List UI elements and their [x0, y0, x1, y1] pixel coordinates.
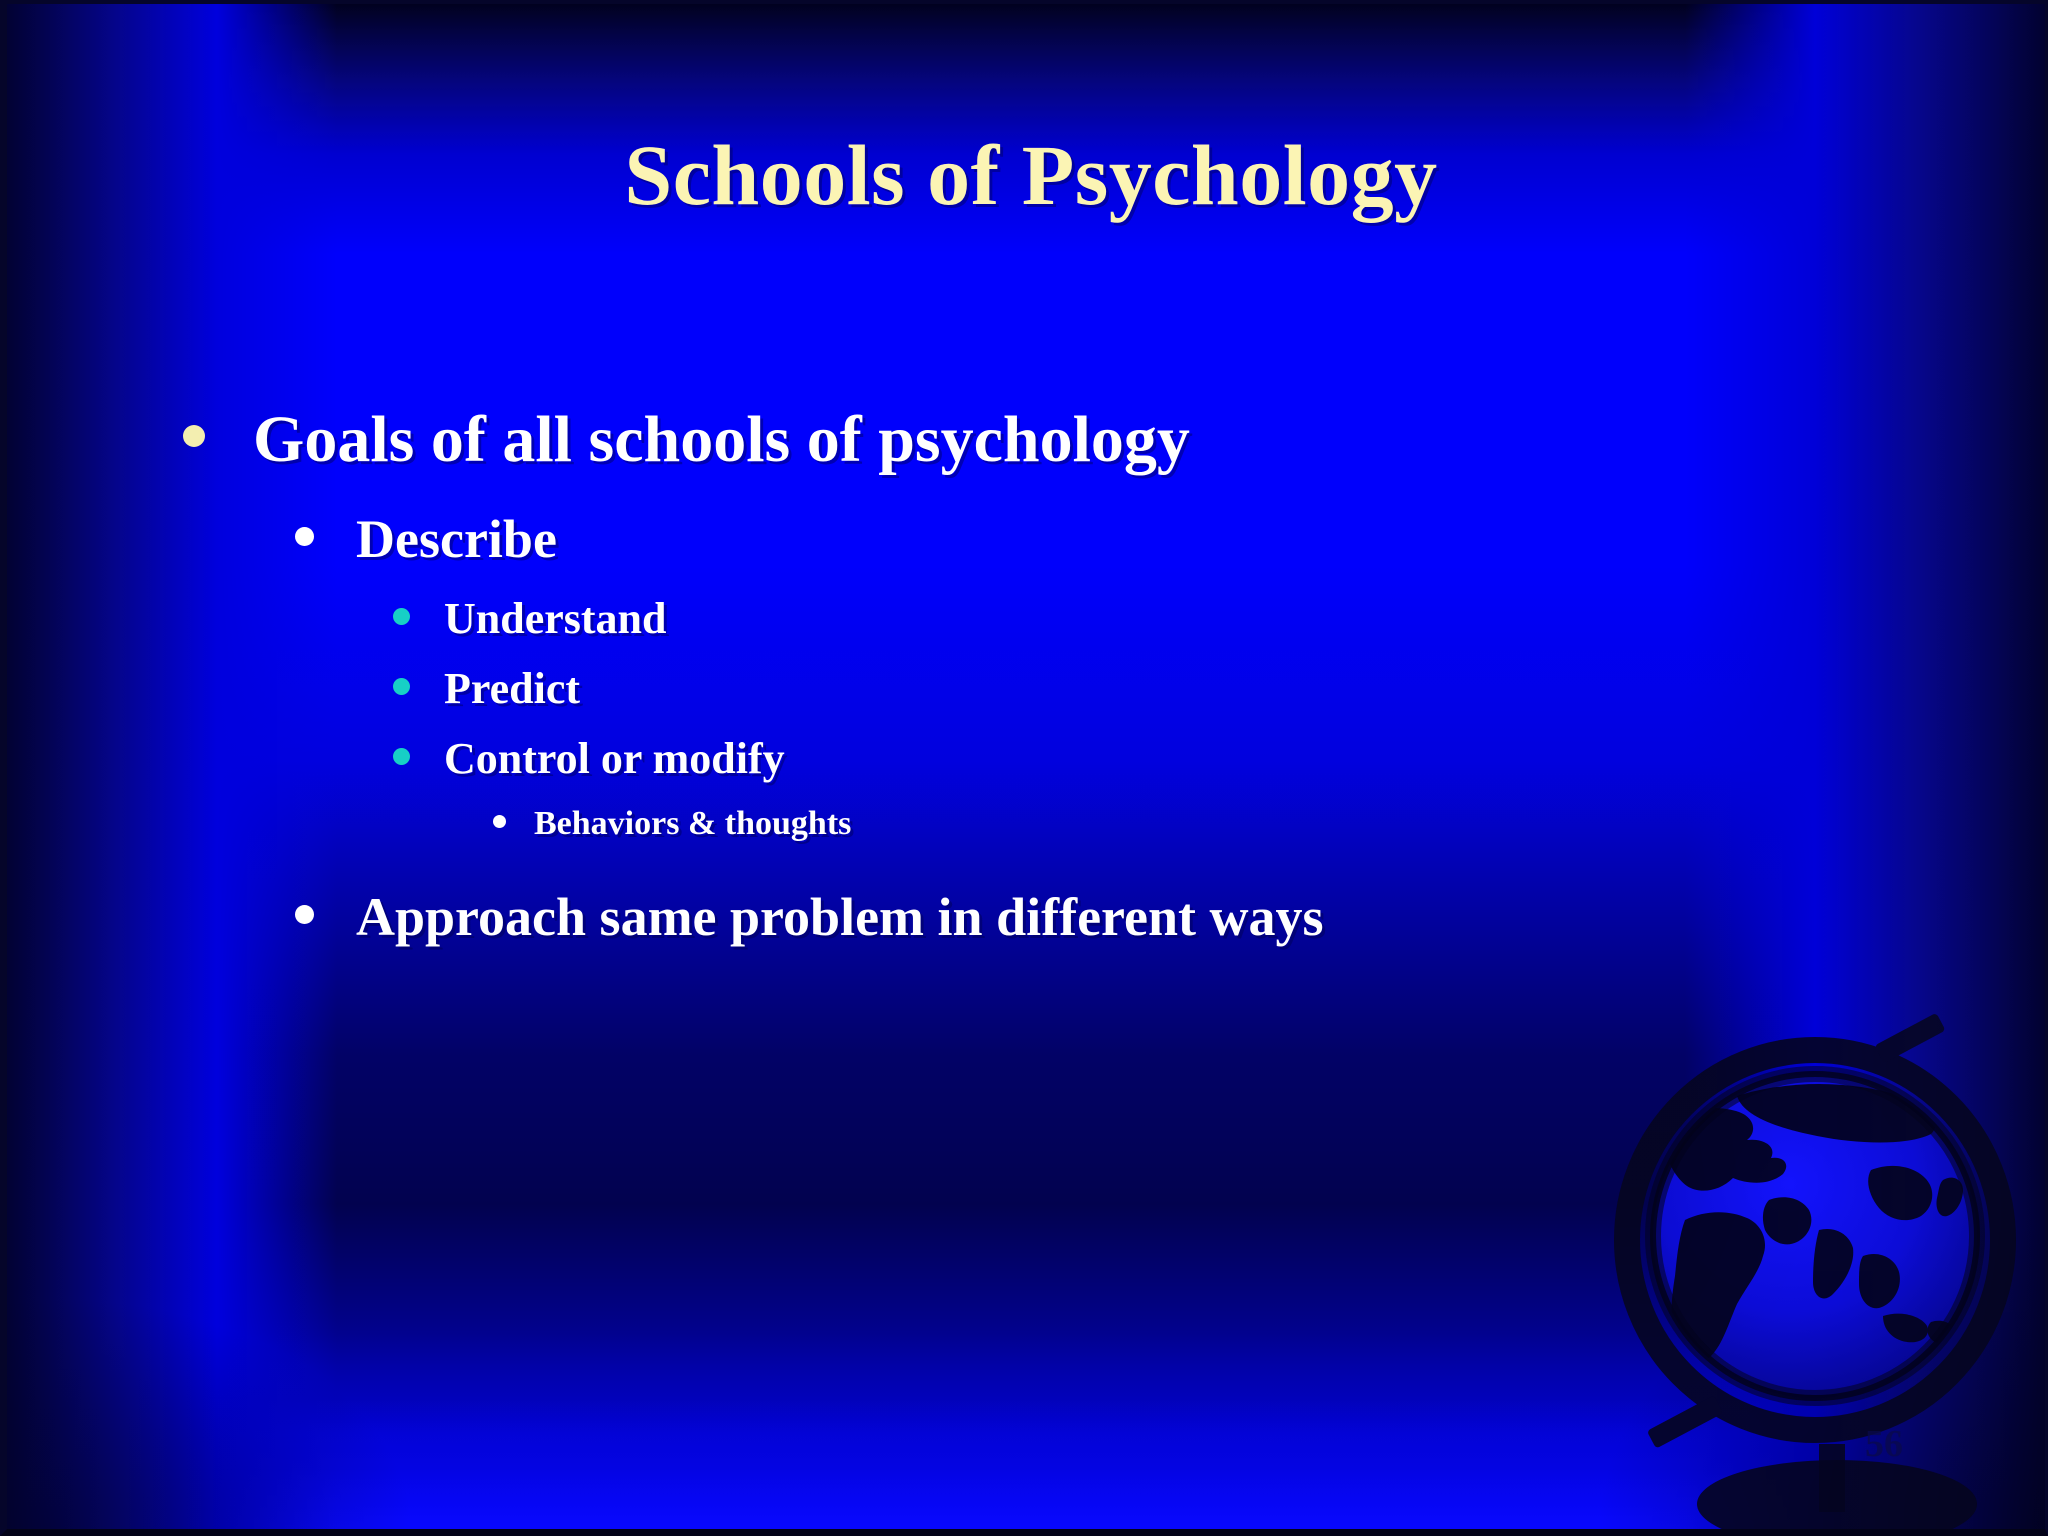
bullet-dot-icon	[393, 748, 410, 765]
bullet-label: Approach same problem in different ways	[356, 878, 1324, 956]
bullet-dot-icon	[393, 608, 410, 625]
bullet-dot-icon	[493, 815, 506, 828]
bullet-label: Control or modify	[444, 726, 785, 792]
bullet-dot-icon	[393, 678, 410, 695]
bullet-label: Predict	[444, 656, 580, 722]
globe-icon	[1587, 1004, 2048, 1536]
bullet-item-level2: Approach same problem in different ways	[7, 878, 2048, 956]
bullet-label: Behaviors & thoughts	[534, 796, 851, 852]
bullet-item-level4: Behaviors & thoughts	[7, 796, 2048, 852]
slide-body-outline: Goals of all schools of psychology Descr…	[7, 394, 2048, 964]
slide-number: 56	[1865, 1422, 1903, 1466]
bullet-item-level3: Predict	[7, 656, 2048, 722]
bullet-dot-icon	[183, 425, 205, 447]
bullet-dot-icon	[295, 905, 314, 924]
bullet-dot-icon	[295, 527, 314, 546]
bullet-label: Understand	[444, 586, 667, 652]
bullet-item-level3: Control or modify	[7, 726, 2048, 792]
bullet-label: Goals of all schools of psychology	[253, 394, 1190, 486]
bullet-item-level2: Describe	[7, 500, 2048, 578]
bullet-item-level1: Goals of all schools of psychology	[7, 394, 2048, 486]
bullet-label: Describe	[356, 500, 557, 578]
slide-title: Schools of Psychology	[7, 130, 2048, 220]
presentation-slide: Schools of Psychology Goals of all schoo…	[0, 0, 2048, 1536]
bullet-item-level3: Understand	[7, 586, 2048, 652]
